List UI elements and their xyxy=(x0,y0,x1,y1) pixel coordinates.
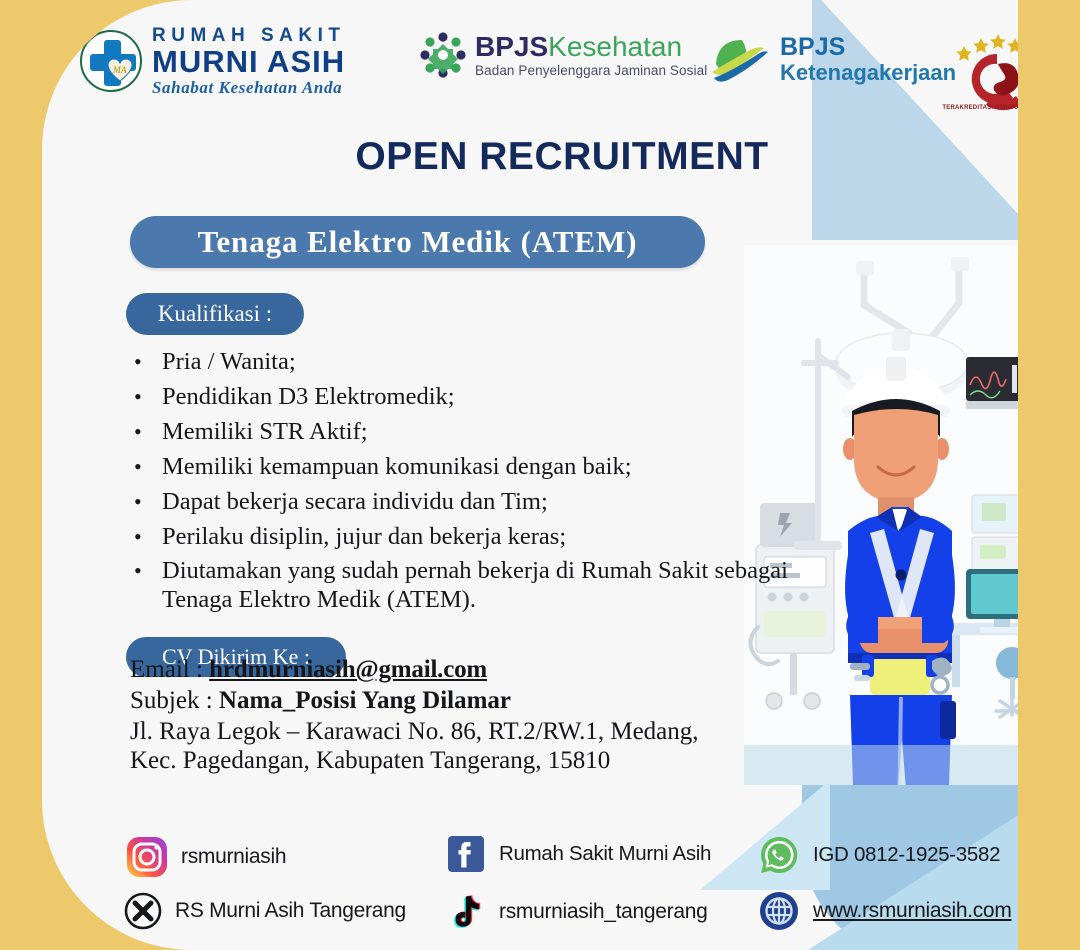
qualification-text: Memiliki kemampuan komunikasi dengan bai… xyxy=(162,453,794,482)
qualifications-list: • Pria / Wanita; • Pendidikan D3 Elektro… xyxy=(134,348,794,621)
qualification-text: Dapat bekerja secara individu dan Tim; xyxy=(162,488,794,517)
contact-block: Email : hrdmurniasih@gmail.com Subjek : … xyxy=(130,655,810,775)
bullet-icon: • xyxy=(134,418,162,446)
email-value[interactable]: hrdmurniasih@gmail.com xyxy=(209,656,487,683)
gold-frame-strip xyxy=(1018,0,1080,950)
bullet-icon: • xyxy=(134,348,162,376)
tiktok-icon[interactable] xyxy=(446,892,486,932)
poster-content: MA RUMAH SAKIT MURNI ASIH Sahabat Keseha… xyxy=(42,0,1080,950)
bullet-icon: • xyxy=(134,453,162,481)
logo-row: MA RUMAH SAKIT MURNI ASIH Sahabat Keseha… xyxy=(80,18,1030,110)
list-item: • Pendidikan D3 Elektromedik; xyxy=(134,383,794,412)
qualifications-badge: Kualifikasi : xyxy=(126,293,304,335)
x-handle[interactable]: RS Murni Asih Tangerang xyxy=(175,899,406,923)
bpjs-ketenagakerjaan-icon xyxy=(710,36,770,82)
heart-icon: MA xyxy=(107,58,133,82)
subject-line: Subjek : Nama_Posisi Yang Dilamar xyxy=(130,686,810,715)
bullet-icon: • xyxy=(134,383,162,411)
instagram-handle[interactable]: rsmurniasih xyxy=(181,845,286,869)
bpjs-tk-line2: Ketenagakerjaan xyxy=(780,61,956,85)
subject-value: Nama_Posisi Yang Dilamar xyxy=(219,687,511,714)
bpjs-kesehatan-subtitle: Badan Penyelenggara Jaminan Sosial xyxy=(475,64,707,78)
job-title-text: Tenaga Elektro Medik (ATEM) xyxy=(198,224,638,260)
qualification-text: Perilaku disiplin, jujur dan bekerja ker… xyxy=(162,523,794,552)
subject-label: Subjek : xyxy=(130,687,219,714)
social-whatsapp[interactable]: IGD 0812-1925-3582 xyxy=(758,834,1000,876)
svg-text:MA: MA xyxy=(112,65,127,75)
tiktok-handle[interactable]: rsmurniasih_tangerang xyxy=(499,900,708,924)
email-line: Email : hrdmurniasih@gmail.com xyxy=(130,655,810,684)
x-twitter-icon[interactable] xyxy=(124,892,162,930)
social-footer: rsmurniasih RS Murni Asih Tangerang Ruma… xyxy=(42,810,1080,950)
hospital-tagline: Sahabat Kesehatan Anda xyxy=(152,79,346,96)
social-instagram[interactable]: rsmurniasih xyxy=(126,836,286,878)
bullet-icon: • xyxy=(134,557,162,585)
whatsapp-number[interactable]: IGD 0812-1925-3582 xyxy=(813,843,1000,867)
qualification-text: Memiliki STR Aktif; xyxy=(162,418,794,447)
whatsapp-icon[interactable] xyxy=(758,834,800,876)
address-line-2: Kec. Pagedangan, Kabupaten Tangerang, 15… xyxy=(130,746,810,775)
qualification-text: Diutamakan yang sudah pernah bekerja di … xyxy=(162,557,794,615)
poster-card: MA RUMAH SAKIT MURNI ASIH Sahabat Keseha… xyxy=(42,0,1080,950)
website-url[interactable]: www.rsmurniasih.com xyxy=(813,899,1012,923)
facebook-name[interactable]: Rumah Sakit Murni Asih xyxy=(499,842,711,866)
social-x[interactable]: RS Murni Asih Tangerang xyxy=(124,892,406,930)
qualification-text: Pendidikan D3 Elektromedik; xyxy=(162,383,794,412)
bpjs-tk-line1: BPJS xyxy=(780,34,956,61)
qualifications-badge-label: Kualifikasi : xyxy=(158,301,272,327)
bpjs-kesehatan-icon xyxy=(420,32,466,78)
poster-background: MA RUMAH SAKIT MURNI ASIH Sahabat Keseha… xyxy=(0,0,1080,950)
list-item: • Pria / Wanita; xyxy=(134,348,794,377)
address-line-1: Jl. Raya Legok – Karawaci No. 86, RT.2/R… xyxy=(130,717,810,746)
instagram-icon[interactable] xyxy=(126,836,168,878)
globe-icon[interactable] xyxy=(758,890,800,932)
list-item: • Diutamakan yang sudah pernah bekerja d… xyxy=(134,557,794,615)
bullet-icon: • xyxy=(134,523,162,551)
email-label: Email : xyxy=(130,656,209,683)
bpjs-kesehatan-brand2: Kesehatan xyxy=(548,31,682,62)
hospital-logo-line2: MURNI ASIH xyxy=(152,46,346,77)
bpjs-kesehatan-logo: BPJSKesehatan Badan Penyelenggara Jamina… xyxy=(420,32,707,79)
list-item: • Perilaku disiplin, jujur dan bekerja k… xyxy=(134,523,794,552)
hospital-logo-line1: RUMAH SAKIT xyxy=(152,26,346,45)
bullet-icon: • xyxy=(134,488,162,516)
list-item: • Dapat bekerja secara individu dan Tim; xyxy=(134,488,794,517)
hospital-cross-icon: MA xyxy=(80,30,142,92)
page-title: OPEN RECRUITMENT xyxy=(42,135,1080,179)
bpjs-kesehatan-brand: BPJS xyxy=(475,31,548,62)
qualification-text: Pria / Wanita; xyxy=(162,348,794,377)
hospital-logo: MA RUMAH SAKIT MURNI ASIH Sahabat Keseha… xyxy=(80,26,346,96)
social-tiktok[interactable]: rsmurniasih_tangerang xyxy=(446,892,708,932)
facebook-icon[interactable] xyxy=(446,834,486,874)
bpjs-ketenagakerjaan-logo: BPJS Ketenagakerjaan xyxy=(710,34,956,85)
job-title-banner: Tenaga Elektro Medik (ATEM) xyxy=(130,216,705,268)
list-item: • Memiliki STR Aktif; xyxy=(134,418,794,447)
social-facebook[interactable]: Rumah Sakit Murni Asih xyxy=(446,834,711,874)
social-website[interactable]: www.rsmurniasih.com xyxy=(758,890,1012,932)
list-item: • Memiliki kemampuan komunikasi dengan b… xyxy=(134,453,794,482)
